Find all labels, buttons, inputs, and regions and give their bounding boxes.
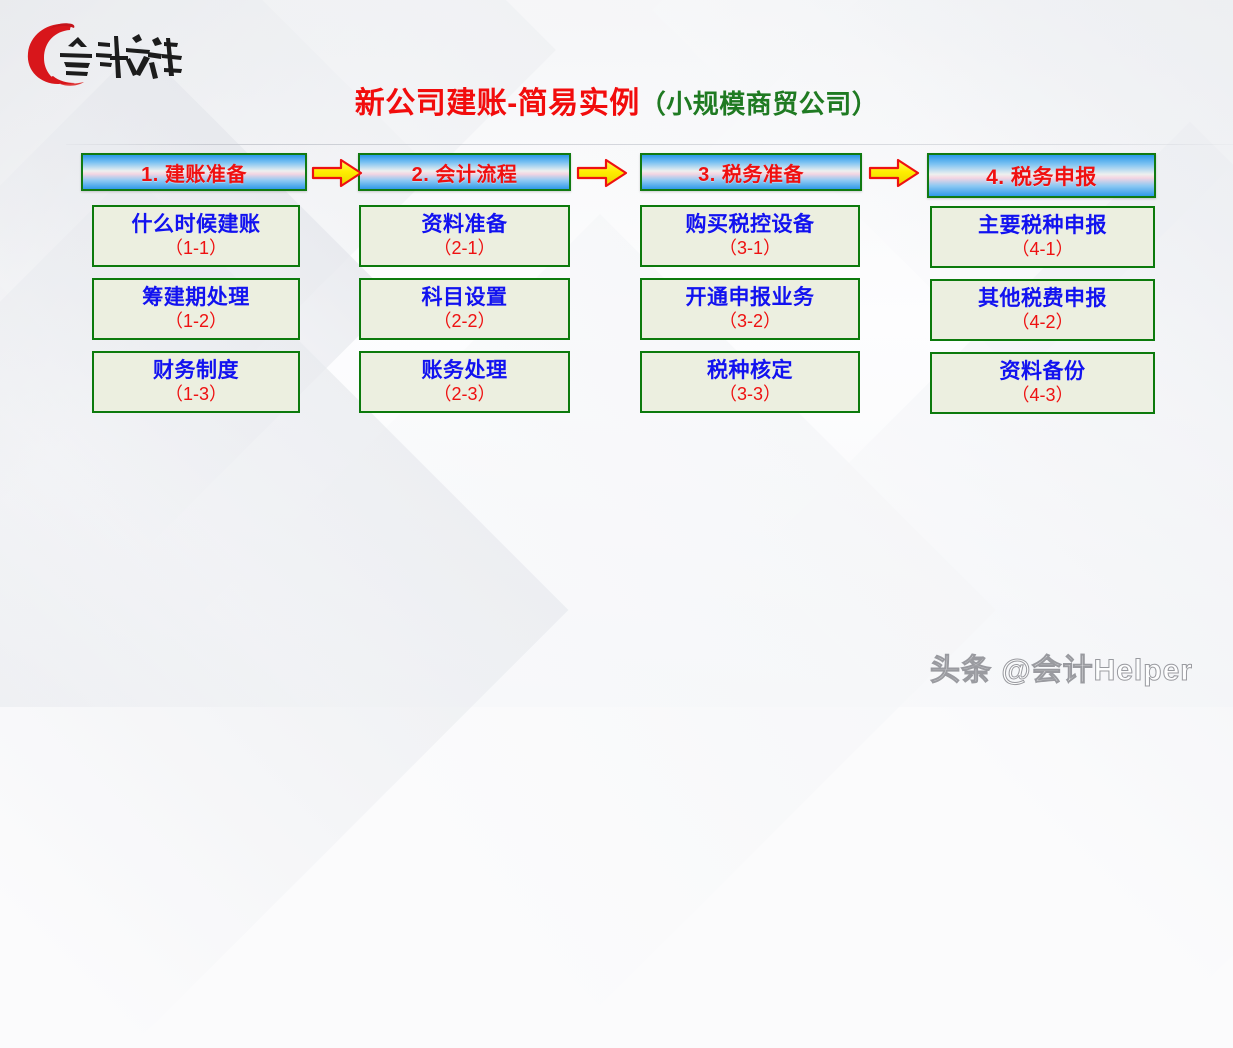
flow-item-name: 筹建期处理 — [142, 287, 250, 309]
flow-item-name: 资料准备 — [422, 214, 508, 236]
stage-header-3-label: 3. 税务准备 — [698, 158, 804, 187]
flow-column-2: 2. 会计流程 资料准备 （2-1） 科目设置 （2-2） 账务处理 （2-3） — [358, 153, 571, 424]
flow-item-name: 账务处理 — [422, 360, 508, 382]
page-title-sub: （小规模商贸公司） — [640, 89, 879, 119]
flow-item-4-3[interactable]: 资料备份 （4-3） — [930, 352, 1155, 414]
flow-item-4-2[interactable]: 其他税费申报 （4-2） — [930, 279, 1155, 341]
flow-item-name: 税种核定 — [707, 360, 793, 382]
flow-item-1-1[interactable]: 什么时候建账 （1-1） — [92, 205, 300, 267]
flow-item-name: 资料备份 — [1000, 361, 1086, 383]
stage-2-items: 资料准备 （2-1） 科目设置 （2-2） 账务处理 （2-3） — [359, 205, 570, 413]
stage-header-4-label: 4. 税务申报 — [986, 161, 1097, 191]
flow-item-name: 主要税种申报 — [978, 215, 1107, 237]
flow-item-3-2[interactable]: 开通申报业务 （3-2） — [640, 278, 860, 340]
flow-item-code: （3-3） — [719, 384, 781, 405]
flow-item-4-1[interactable]: 主要税种申报 （4-1） — [930, 206, 1155, 268]
watermark: 头条 @会计Helper — [930, 645, 1193, 689]
stage-header-1[interactable]: 1. 建账准备 — [81, 153, 307, 191]
stage-1-items: 什么时候建账 （1-1） 筹建期处理 （1-2） 财务制度 （1-3） — [92, 205, 300, 413]
flow-arrow-right-icon — [576, 158, 628, 188]
flow-item-3-1[interactable]: 购买税控设备 （3-1） — [640, 205, 860, 267]
flow-column-1: 1. 建账准备 什么时候建账 （1-1） 筹建期处理 （1-2） 财务制度 （1… — [81, 153, 307, 424]
flow-item-name: 其他税费申报 — [978, 288, 1107, 310]
flow-item-code: （2-2） — [433, 311, 495, 332]
flow-item-code: （1-2） — [165, 311, 227, 332]
flow-item-name: 什么时候建账 — [132, 214, 261, 236]
flow-arrow-right-icon — [868, 158, 920, 188]
flow-item-code: （4-1） — [1011, 239, 1073, 260]
flow-item-2-3[interactable]: 账务处理 （2-3） — [359, 351, 570, 413]
stage-header-3[interactable]: 3. 税务准备 — [640, 153, 862, 191]
flow-item-code: （3-2） — [719, 311, 781, 332]
flow-column-3: 3. 税务准备 购买税控设备 （3-1） 开通申报业务 （3-2） 税种核定 （… — [640, 153, 862, 424]
flow-item-1-2[interactable]: 筹建期处理 （1-2） — [92, 278, 300, 340]
flow-column-4: 4. 税务申报 主要税种申报 （4-1） 其他税费申报 （4-2） 资料备份 （… — [927, 153, 1156, 425]
stage-header-2-label: 2. 会计流程 — [412, 158, 518, 187]
stage-header-4[interactable]: 4. 税务申报 — [927, 153, 1156, 198]
stage-4-items: 主要税种申报 （4-1） 其他税费申报 （4-2） 资料备份 （4-3） — [930, 206, 1155, 414]
flow-item-code: （2-1） — [433, 238, 495, 259]
flow-item-2-1[interactable]: 资料准备 （2-1） — [359, 205, 570, 267]
flow-item-code: （4-2） — [1011, 312, 1073, 333]
flow-item-2-2[interactable]: 科目设置 （2-2） — [359, 278, 570, 340]
stage-3-items: 购买税控设备 （3-1） 开通申报业务 （3-2） 税种核定 （3-3） — [640, 205, 860, 413]
flow-item-name: 科目设置 — [422, 287, 508, 309]
flow-item-name: 购买税控设备 — [686, 214, 815, 236]
flow-item-1-3[interactable]: 财务制度 （1-3） — [92, 351, 300, 413]
flow-arrow-right-icon — [311, 158, 363, 188]
flow-item-code: （3-1） — [719, 238, 781, 259]
flow-item-code: （1-3） — [165, 384, 227, 405]
flow-item-code: （4-3） — [1011, 385, 1073, 406]
flow-item-code: （1-1） — [165, 238, 227, 259]
page-title-main: 新公司建账-简易实例 — [355, 87, 640, 120]
page-title: 新公司建账-简易实例（小规模商贸公司） — [0, 78, 1233, 122]
stage-header-2[interactable]: 2. 会计流程 — [358, 153, 571, 191]
flow-item-name: 财务制度 — [153, 360, 239, 382]
stage-header-1-label: 1. 建账准备 — [141, 158, 247, 187]
flow-item-3-3[interactable]: 税种核定 （3-3） — [640, 351, 860, 413]
flow-item-name: 开通申报业务 — [686, 287, 815, 309]
flow-item-code: （2-3） — [433, 384, 495, 405]
